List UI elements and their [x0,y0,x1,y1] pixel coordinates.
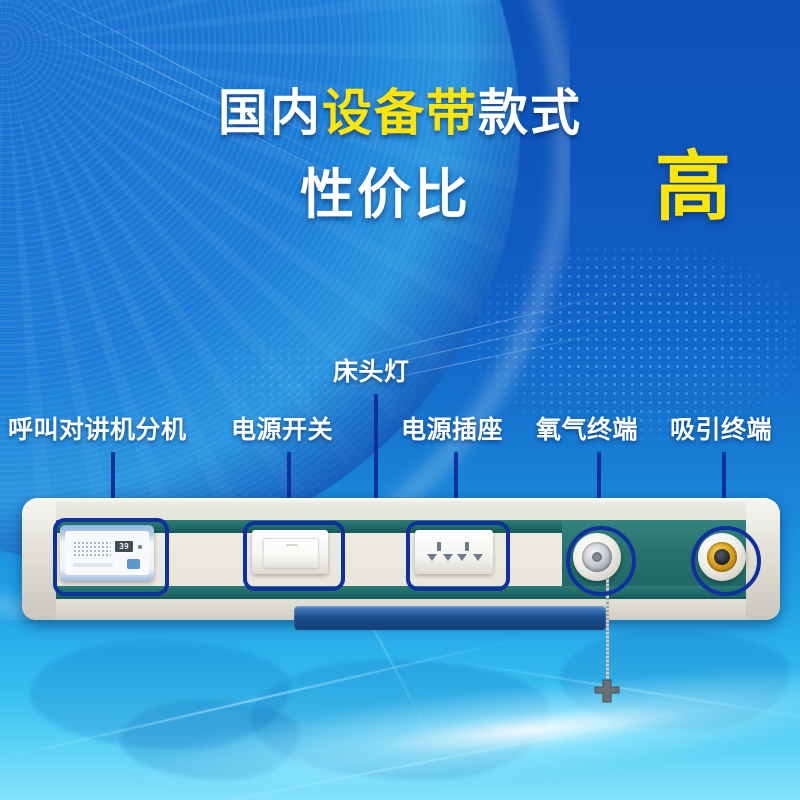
callout-label-power-switch: 电源开关 [231,418,333,443]
callout-label-bed-lamp: 床头灯 [333,360,410,385]
callout-label-intercom: 呼叫对讲机分机 [8,418,187,443]
headline-big-char: 高 [655,150,731,226]
callout-circle-suction [691,526,761,596]
panel-end-cap-left [22,498,56,620]
callout-label-oxygen: 氧气终端 [536,418,638,443]
callout-label-suction: 吸引终端 [670,418,772,443]
callout-box-power-switch [243,521,345,591]
pull-cord-handle-icon[interactable] [593,678,621,704]
headline-text-white-1: 国内 [218,85,322,141]
callout-label-socket: 电源插座 [401,418,503,443]
callout-box-intercom [53,518,169,596]
headline-line-1: 国内设备带款式 [0,88,800,138]
callout-box-socket [406,521,510,591]
headline-text-white-2: 款式 [478,85,582,141]
headline-line-2: 性价比 [300,168,471,222]
headline-text-yellow: 设备带 [322,85,478,141]
callout-circle-oxygen [566,526,636,596]
promo-banner: 国内设备带款式 性价比 高 呼叫对讲机分机 电源开关 床头灯 电源插座 氧气终端… [0,0,800,800]
bed-lamp-light-bar[interactable] [294,606,606,630]
